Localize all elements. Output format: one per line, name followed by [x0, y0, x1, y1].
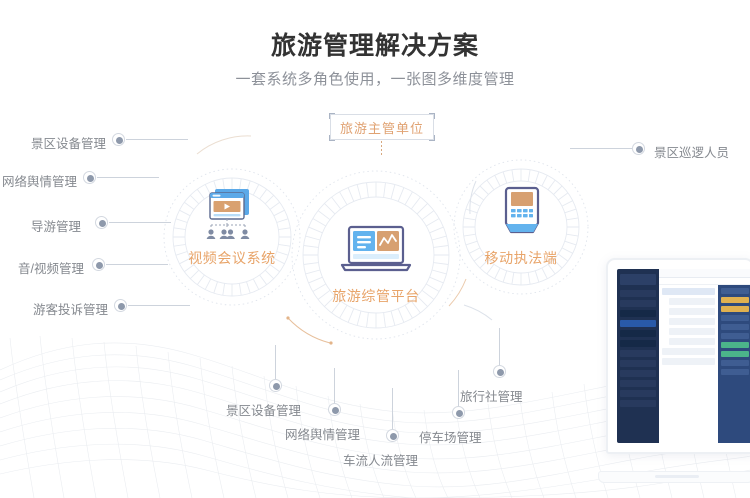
connector-line-bottom-1: [334, 368, 335, 403]
connector-dot-left-2[interactable]: [95, 216, 108, 229]
laptop-base: [598, 471, 750, 483]
list-item[interactable]: [662, 358, 715, 365]
dashboard-filterbar: [659, 278, 750, 285]
panel-row: [721, 342, 749, 348]
sidebar-item[interactable]: [620, 350, 656, 357]
connector-label-bottom-3: 停车场管理: [419, 427, 482, 446]
panel-row: [721, 360, 749, 366]
connector-dot-left-0[interactable]: [112, 133, 125, 146]
sidebar-item[interactable]: [620, 330, 656, 337]
connector-line-right-0: [570, 148, 632, 149]
laptop-lid: [606, 258, 750, 454]
list-item[interactable]: [662, 348, 715, 355]
solution-diagram-page: 旅游管理解决方案 一套系统多角色使用，一张图多维度管理 旅游主管单位: [0, 0, 750, 498]
sidebar-item-active[interactable]: [620, 320, 656, 327]
dashboard-content: [659, 269, 750, 443]
laptop-dashboard-icon: [338, 225, 414, 281]
sidebar-item[interactable]: [620, 360, 656, 367]
dashboard-tree-list[interactable]: [659, 285, 718, 443]
connector-label-bottom-4: 旅行社管理: [460, 386, 523, 405]
connector-line-left-2: [109, 222, 171, 223]
dashboard-topbar: [659, 269, 750, 278]
panel-row: [721, 351, 749, 357]
list-item[interactable]: [669, 328, 715, 335]
panel-row: [721, 297, 749, 303]
sidebar-item[interactable]: [620, 290, 656, 297]
connector-line-left-1: [97, 177, 159, 178]
connector-line-bottom-3: [458, 370, 459, 406]
connector-label-left-3: 音/视频管理: [18, 258, 84, 277]
connector-dot-bottom-2[interactable]: [386, 429, 399, 442]
dashboard-sidebar[interactable]: [617, 269, 659, 443]
sidebar-item[interactable]: [620, 370, 656, 377]
connector-line-left-3: [106, 264, 168, 265]
dashboard-right-panel: [718, 285, 750, 443]
connector-label-left-2: 导游管理: [31, 216, 81, 235]
list-item[interactable]: [669, 298, 715, 305]
list-item[interactable]: [669, 308, 715, 315]
list-item[interactable]: [669, 318, 715, 325]
connector-label-left-1: 网络舆情管理: [2, 171, 77, 190]
sidebar-item[interactable]: [620, 310, 656, 317]
connector-line-bottom-0: [275, 345, 276, 379]
sidebar-item[interactable]: [620, 380, 656, 387]
panel-row: [721, 315, 749, 321]
panel-row: [721, 306, 749, 312]
connector-label-bottom-0: 景区设备管理: [226, 400, 301, 419]
video-window-icon: [199, 184, 265, 250]
laptop-hinge: [655, 475, 699, 478]
node-label-video-conference: 视频会议系统: [172, 248, 292, 268]
connector-line-bottom-2: [392, 388, 393, 429]
list-item[interactable]: [662, 288, 715, 295]
panel-row: [721, 333, 749, 339]
dashboard-body: [659, 285, 750, 443]
tourism-dashboard-preview[interactable]: [598, 258, 750, 483]
list-item[interactable]: [669, 338, 715, 345]
connector-label-left-0: 景区设备管理: [31, 133, 106, 152]
connector-line-bottom-4: [499, 328, 500, 365]
connector-dot-bottom-3[interactable]: [452, 406, 465, 419]
handheld-terminal-icon: [500, 184, 544, 244]
connector-dot-bottom-1[interactable]: [328, 403, 341, 416]
panel-row: [721, 369, 749, 375]
connector-dot-left-4[interactable]: [114, 299, 127, 312]
connector-label-bottom-1: 网络舆情管理: [285, 424, 360, 443]
connector-dot-bottom-0[interactable]: [269, 379, 282, 392]
connector-dot-bottom-4[interactable]: [493, 365, 506, 378]
connector-dot-right-0[interactable]: [632, 142, 645, 155]
panel-row: [721, 324, 749, 330]
connector-dot-left-1[interactable]: [83, 171, 96, 184]
connector-line-left-4: [128, 305, 190, 306]
connector-label-right-0: 景区巡逻人员: [654, 142, 729, 161]
dashboard-logo: [620, 274, 656, 285]
connector-label-bottom-2: 车流人流管理: [343, 450, 418, 469]
sidebar-item[interactable]: [620, 400, 656, 407]
panel-row: [721, 288, 749, 294]
connector-label-left-4: 游客投诉管理: [33, 299, 108, 318]
node-label-tourism-platform: 旅游综管平台: [316, 286, 436, 306]
connector-line-left-0: [126, 139, 188, 140]
dashboard-screen[interactable]: [617, 269, 750, 443]
node-label-mobile-enforcement: 移动执法端: [461, 248, 581, 268]
sidebar-item[interactable]: [620, 300, 656, 307]
sidebar-item[interactable]: [620, 390, 656, 397]
connector-dot-left-3[interactable]: [92, 258, 105, 271]
sidebar-item[interactable]: [620, 340, 656, 347]
